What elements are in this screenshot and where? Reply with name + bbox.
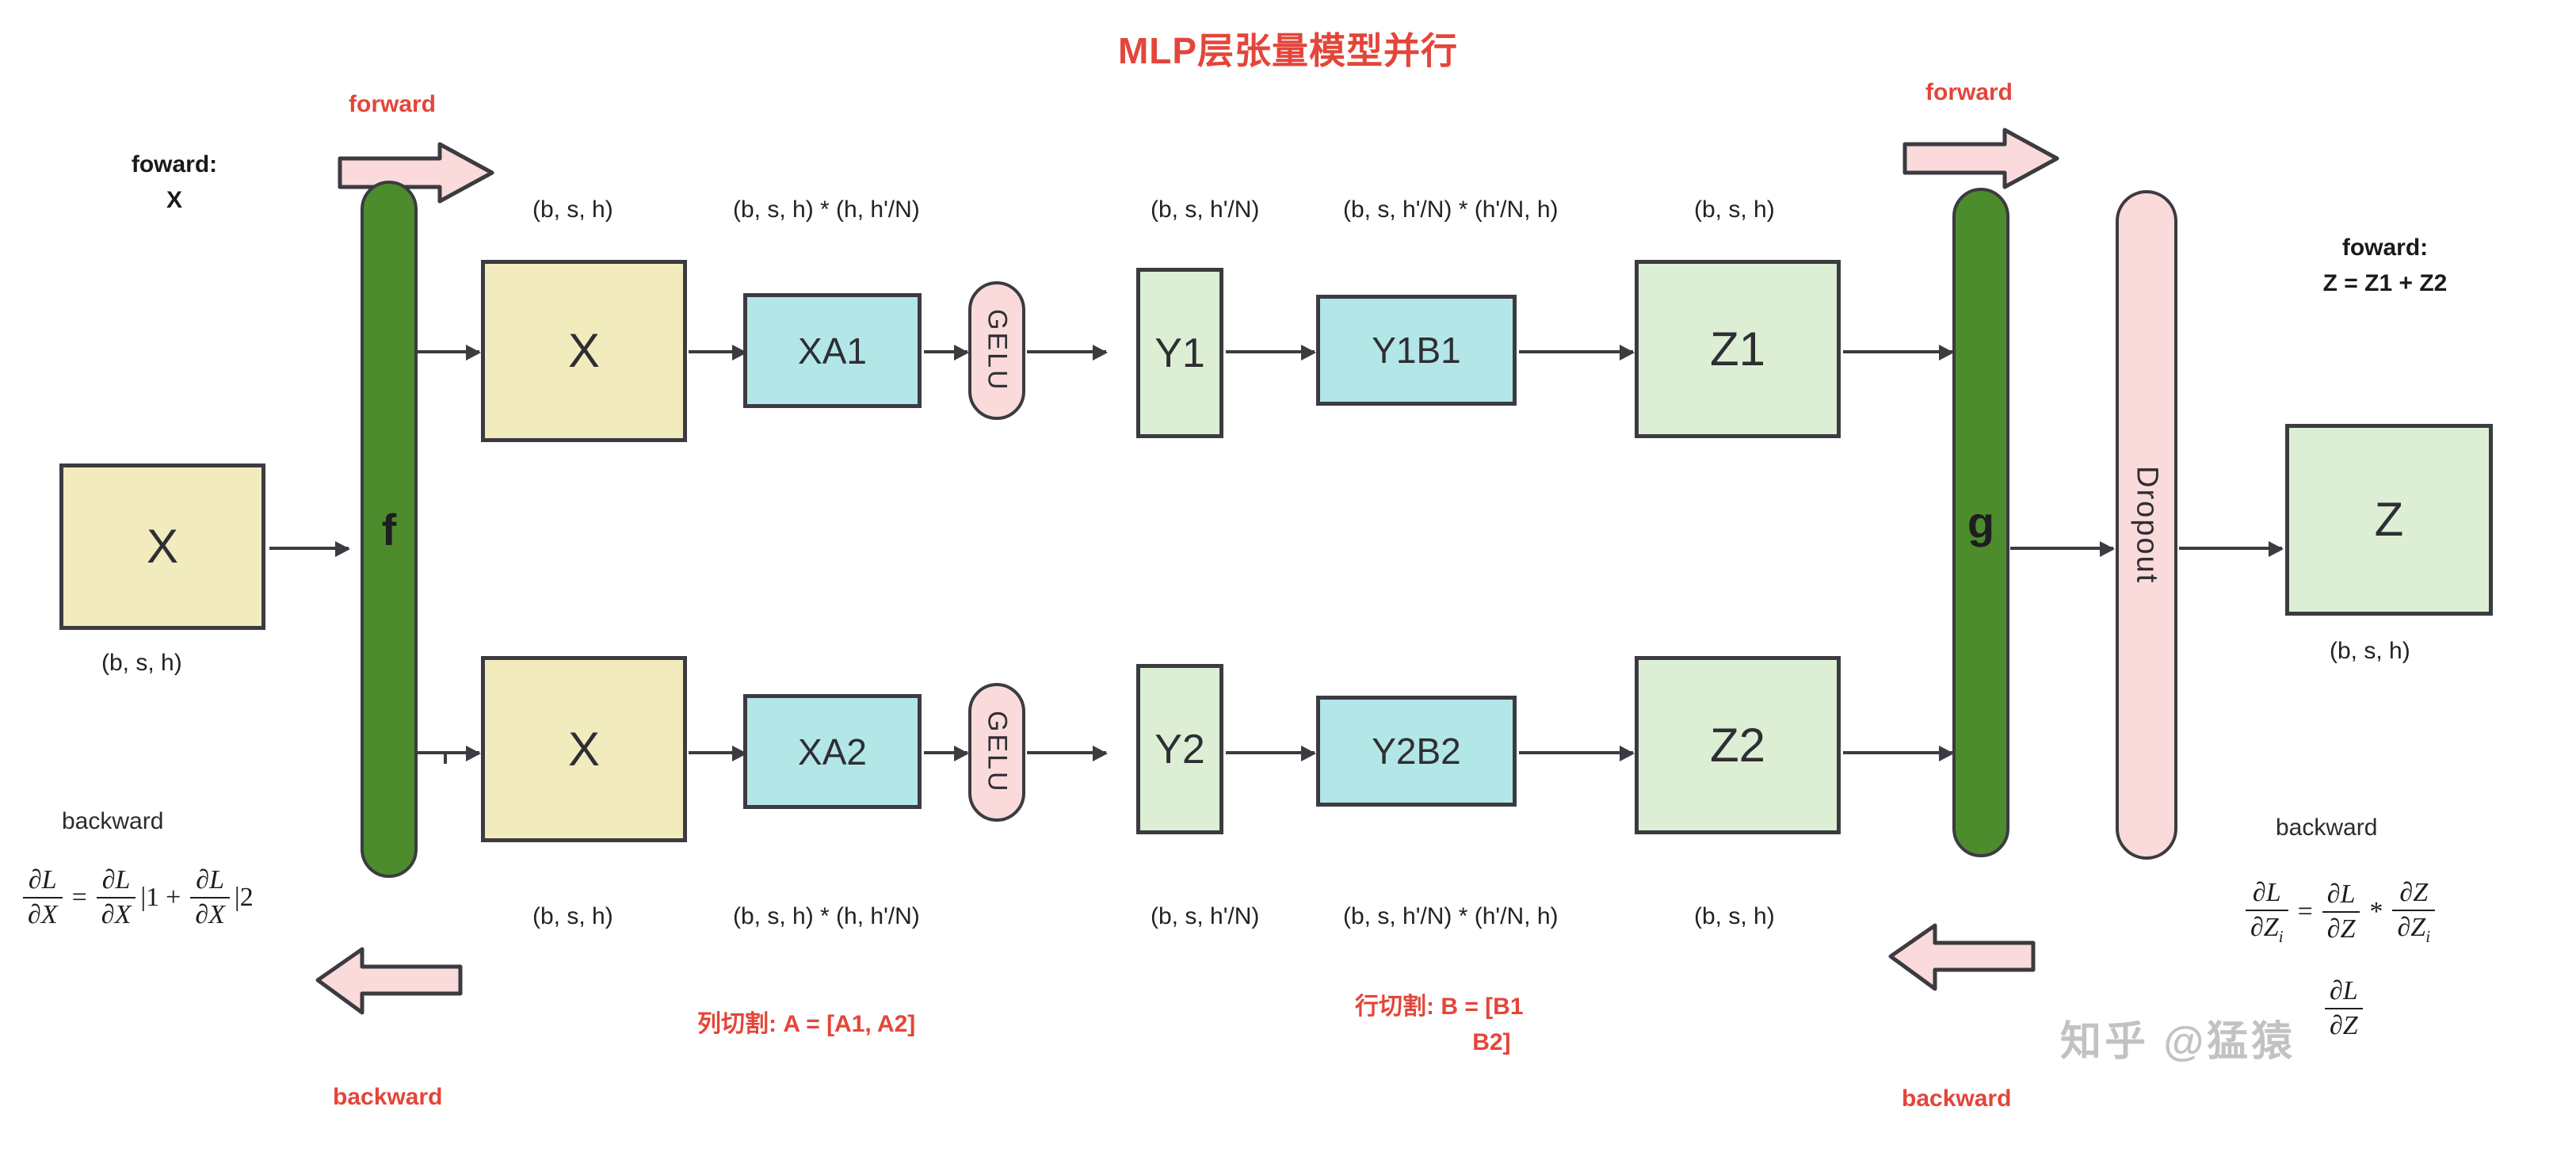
row1-connector-gelu-y [1027,350,1106,353]
formula-lhs-num: ∂L [24,865,62,897]
row1-dim-1: (b, s, h) * (h, h'/N) [733,196,920,223]
formula-lhs: ∂L ∂X [23,865,63,930]
f-bar-label: f [382,504,397,555]
rformula-lhs: ∂L ∂Zi [2246,878,2288,947]
connector-dropout-to-z [2179,547,2282,550]
annotation-row-split-line1: 行切割: B = [B1 [1355,989,1524,1024]
f-bar: f [361,181,418,878]
row2-dim-4: (b, s, h) [1694,903,1775,930]
row2-xa-box: XA2 [743,694,922,809]
row2-connector-x-xa [689,751,746,754]
row2-connector-yb-z [1519,751,1633,754]
connector-x-to-f [269,547,349,550]
rformula-equals: = [2298,897,2313,927]
row1-gelu-label: GELU [982,309,1013,392]
row2-connector-gelu-y [1027,751,1106,754]
row1-xa-box: XA1 [743,293,922,408]
row2-connector-xa-gelu [924,751,967,754]
right-backward-label: backward [1902,1085,2011,1112]
input-x-dim: (b, s, h) [101,650,182,677]
rformula-lhs-num: ∂L [2248,878,2286,910]
row2-yb-box: Y2B2 [1316,696,1517,807]
page-title: MLP层张量模型并行 [0,22,2576,74]
row1-x-box: X [481,260,687,442]
row2-dim-0: (b, s, h) [532,903,613,930]
row2-gelu-label: GELU [982,711,1013,794]
formula-equals: = [72,883,87,913]
rformula-extra-den: ∂Z [2325,1008,2363,1041]
right-forward-label: forward [1925,79,2013,106]
dropout-bar: Dropout [2116,190,2177,860]
row1-connector-y-yb [1226,350,1315,353]
backward-block-arrow-left [313,943,464,1018]
connector-f-to-row1 [418,350,479,353]
left-forward-note: foward: X [87,147,261,218]
row2-connector-y-yb [1226,751,1315,754]
row1-dim-2: (b, s, h'/N) [1151,196,1259,223]
formula-t1-den: ∂X [97,897,136,930]
row2-dim-2: (b, s, h'/N) [1151,903,1259,930]
connector-g-to-dropout [2010,547,2113,550]
output-z-box: Z [2285,424,2493,616]
rformula-extra-num: ∂L [2325,976,2363,1008]
annotation-row-split: 行切割: B = [B1 B2] [1355,989,1524,1060]
left-forward-label: forward [349,91,436,118]
annotation-row-split-line2: B2] [1355,1024,1524,1060]
backward-block-arrow-right [1886,919,2036,994]
left-backward-caption: backward [62,808,163,835]
formula-term1: ∂L ∂X [97,865,136,930]
row1-gelu-pill: GELU [968,281,1025,420]
connector-f-to-row2 [418,751,479,754]
formula-t2-sub: |2 [235,883,254,913]
connector-f-row2-jog [444,751,447,764]
rformula-term2: ∂Z ∂Zi [2392,878,2435,947]
row1-dim-0: (b, s, h) [532,196,613,223]
formula-t2-num: ∂L [191,865,229,897]
dropout-bar-label: Dropout [2130,466,2164,584]
rformula-t1-num: ∂L [2322,879,2360,911]
left-forward-note-line1: foward: [87,147,261,182]
formula-t1-sub: |1 [140,883,159,913]
formula-t2-den: ∂X [190,897,230,930]
row2-y-box: Y2 [1136,664,1223,834]
rformula-t2-den: ∂Zi [2392,910,2435,947]
g-bar: g [1952,188,2009,857]
row1-connector-yb-z [1519,350,1633,353]
left-backward-formula: ∂L ∂X = ∂L ∂X |1 + ∂L ∂X |2 [20,865,254,930]
rformula-times: * [2369,897,2383,927]
row2-gelu-pill: GELU [968,683,1025,822]
row1-z-box: Z1 [1635,260,1841,438]
right-forward-note: foward: Z = Z1 + Z2 [2250,230,2520,301]
right-backward-formula: ∂L ∂Zi = ∂L ∂Z * ∂Z ∂Zi [2242,878,2438,947]
row2-dim-3: (b, s, h'/N) * (h'/N, h) [1343,903,1559,930]
right-backward-caption: backward [2276,815,2377,841]
row1-connector-z-g [1843,350,1952,353]
forward-block-arrow-left [337,141,495,204]
g-bar-label: g [1967,497,1994,548]
diagram-canvas: MLP层张量模型并行 foward: X forward X (b, s, h)… [0,0,2576,1156]
row1-y-box: Y1 [1136,268,1223,438]
rformula-t1-den: ∂Z [2322,911,2360,944]
right-backward-formula-extra: ∂L ∂Z [2322,976,2366,1041]
formula-t1-num: ∂L [97,865,135,897]
row2-x-box: X [481,656,687,842]
formula-lhs-den: ∂X [23,897,63,930]
formula-plus: + [166,883,181,913]
row2-connector-z-g [1843,751,1952,754]
row1-dim-3: (b, s, h'/N) * (h'/N, h) [1343,196,1559,223]
output-z-dim: (b, s, h) [2330,638,2410,665]
right-forward-note-line2: Z = Z1 + Z2 [2250,265,2520,301]
forward-block-arrow-right [1902,127,2060,190]
rformula-t2-num: ∂Z [2395,878,2433,910]
annotation-column-split: 列切割: A = [A1, A2] [697,1006,915,1042]
row1-connector-xa-gelu [924,350,967,353]
watermark: 知乎 @猛猿 [2060,1008,2296,1067]
left-backward-label: backward [333,1084,442,1111]
rformula-term1: ∂L ∂Z [2322,879,2360,944]
row2-dim-1: (b, s, h) * (h, h'/N) [733,903,920,930]
rformula-extra: ∂L ∂Z [2325,976,2363,1041]
input-x-box: X [59,464,265,630]
right-forward-note-line1: foward: [2250,230,2520,265]
left-forward-note-line2: X [87,182,261,218]
row2-z-box: Z2 [1635,656,1841,834]
row1-yb-box: Y1B1 [1316,295,1517,406]
row1-dim-4: (b, s, h) [1694,196,1775,223]
rformula-lhs-den: ∂Zi [2246,910,2288,947]
row1-connector-x-xa [689,350,746,353]
formula-term2: ∂L ∂X [190,865,230,930]
